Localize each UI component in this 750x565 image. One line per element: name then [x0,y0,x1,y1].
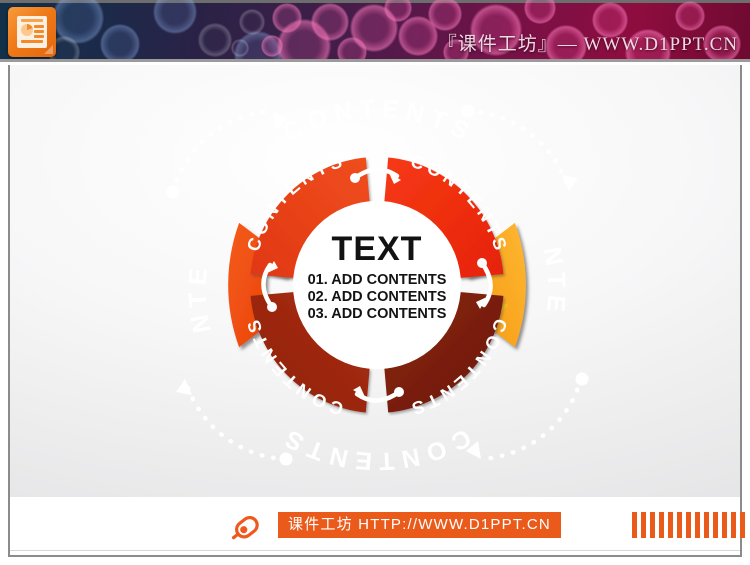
footer-stripe-decoration [632,512,744,538]
logo-text-line [34,30,44,33]
footer-bar: 课件工坊 HTTP://WWW.D1PPT.CN [8,497,742,557]
header-banner: 『课件工坊』— WWW.D1PPT.CN [0,0,750,62]
outer-label-top: CONTENTS [279,95,476,147]
contents-wheel-diagram: CONTENTS CONTENTS CONTENTS CONTENTS [137,75,617,495]
logo-text-line [21,40,43,43]
dotted-arc-top-right [469,111,569,191]
dotted-arc-top-left [173,111,273,191]
powerpoint-document-icon [8,7,56,57]
footer-rule [10,550,740,551]
logo-document-shape [17,16,47,48]
slide-body: CONTENTS CONTENTS CONTENTS CONTENTS [8,65,742,497]
header-title: 『课件工坊』— WWW.D1PPT.CN [438,29,738,56]
logo-title-rule [21,19,43,22]
header-bottom-rule [0,59,750,62]
center-disc [293,201,461,369]
dotted-arc-bottom-right [481,379,581,459]
logo-text-line [34,35,44,38]
dotted-arc-bottom-left [185,379,285,459]
outer-label-bottom: CONTENTS [278,423,475,475]
footer-url-label[interactable]: 课件工坊 HTTP://WWW.D1PPT.CN [278,512,561,538]
logo-corner-fold [44,45,53,54]
pencil-icon [228,509,268,545]
slide-canvas: 『课件工坊』— WWW.D1PPT.CN [0,0,750,565]
outer-label-left: CONTENTS [137,75,216,335]
logo-text-line [34,25,44,28]
logo-pie-icon [21,24,33,36]
